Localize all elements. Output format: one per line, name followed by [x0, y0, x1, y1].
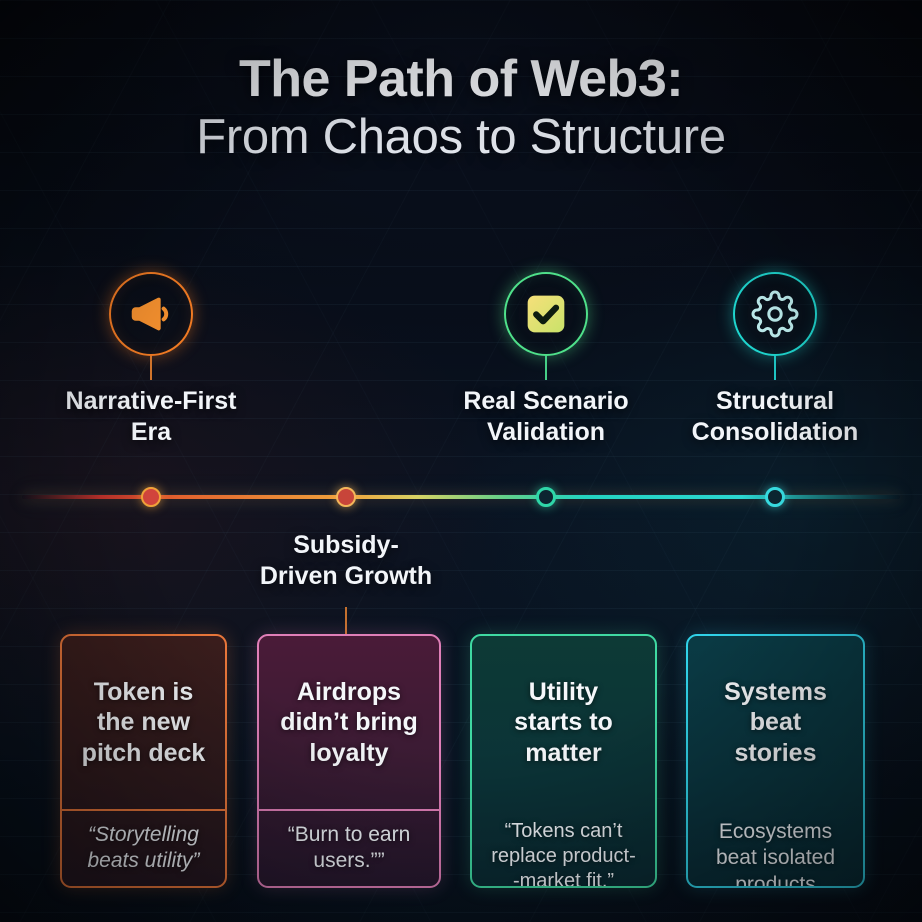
card-token-pitch-deck[interactable]: Token is the new pitch deck “Storytellin…	[60, 634, 227, 888]
era-stem	[774, 356, 776, 380]
era-label: Structural Consolidation	[655, 386, 895, 447]
infographic-canvas: The Path of Web3: From Chaos to Structur…	[0, 0, 922, 922]
era-label: Real Scenario Validation	[426, 386, 666, 447]
era-card-connector	[345, 607, 347, 634]
card-headline: Systems beat stories	[688, 636, 863, 809]
card-headline: Utility starts to matter	[472, 636, 655, 809]
card-headline: Airdrops didn’t bring loyalty	[259, 636, 439, 809]
era-subsidy-driven-growth[interactable]: Subsidy- Driven Growth	[226, 530, 466, 591]
page-title: The Path of Web3: From Chaos to Structur…	[0, 52, 922, 168]
era-label: Subsidy- Driven Growth	[226, 530, 466, 591]
card-headline: Token is the new pitch deck	[62, 636, 225, 809]
era-structural-consolidation[interactable]: Structural Consolidation	[655, 272, 895, 447]
checkbox-check-icon	[504, 272, 588, 356]
megaphone-icon	[109, 272, 193, 356]
gear-icon	[733, 272, 817, 356]
timeline-node-4[interactable]	[765, 487, 785, 507]
card-airdrops-loyalty[interactable]: Airdrops didn’t bring loyalty “Burn to e…	[257, 634, 441, 888]
era-stem	[545, 356, 547, 380]
timeline-node-2[interactable]	[336, 487, 356, 507]
card-quote: “Burn to earn users.””	[259, 811, 439, 887]
card-quote: “Storytelling beats utility”	[62, 811, 225, 887]
era-label: Narrative-First Era	[11, 386, 291, 447]
title-line-1: The Path of Web3:	[0, 52, 922, 107]
era-real-scenario[interactable]: Real Scenario Validation	[426, 272, 666, 447]
card-utility-matters[interactable]: Utility starts to matter “Tokens can’t r…	[470, 634, 657, 888]
era-stem	[150, 356, 152, 380]
card-quote: “Tokens can’t replace product- -market f…	[472, 809, 655, 888]
card-systems-beat-stories[interactable]: Systems beat stories Ecosystems beat iso…	[686, 634, 865, 888]
timeline-node-1[interactable]	[141, 487, 161, 507]
timeline-node-3[interactable]	[536, 487, 556, 507]
card-quote: Ecosystems beat isolated products	[688, 809, 863, 888]
era-narrative-first[interactable]: Narrative-First Era	[11, 272, 291, 447]
title-line-2: From Chaos to Structure	[0, 107, 922, 168]
